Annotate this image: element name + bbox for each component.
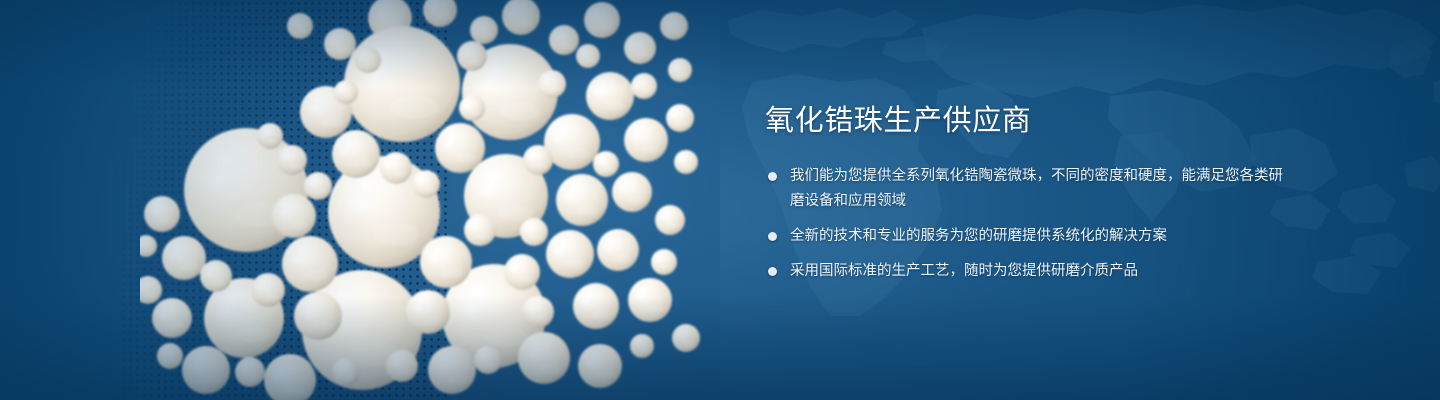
bullet-item: 全新的技术和专业的服务为您的研磨提供系统化的解决方案 bbox=[765, 224, 1285, 249]
bullet-item: 采用国际标准的生产工艺，随时为您提供研磨介质产品 bbox=[765, 259, 1285, 284]
bullet-item: 我们能为您提供全系列氧化锆陶瓷微珠，不同的密度和硬度，能满足您各类研磨设备和应用… bbox=[765, 164, 1285, 214]
bullet-text: 我们能为您提供全系列氧化锆陶瓷微珠，不同的密度和硬度，能满足您各类研磨设备和应用… bbox=[790, 164, 1285, 214]
banner-headline: 氧化锆珠生产供应商 bbox=[765, 104, 1285, 138]
bullet-dot-icon bbox=[768, 267, 777, 276]
bullet-text: 全新的技术和专业的服务为您的研磨提供系统化的解决方案 bbox=[790, 224, 1285, 249]
bullet-text: 采用国际标准的生产工艺，随时为您提供研磨介质产品 bbox=[790, 259, 1285, 284]
banner-copy: 氧化锆珠生产供应商 我们能为您提供全系列氧化锆陶瓷微珠，不同的密度和硬度，能满足… bbox=[765, 104, 1285, 284]
bullet-dot-icon bbox=[768, 232, 777, 241]
bullet-dot-icon bbox=[768, 172, 777, 181]
banner-bullet-list: 我们能为您提供全系列氧化锆陶瓷微珠，不同的密度和硬度，能满足您各类研磨设备和应用… bbox=[765, 164, 1285, 284]
hero-banner: 氧化锆珠生产供应商 我们能为您提供全系列氧化锆陶瓷微珠，不同的密度和硬度，能满足… bbox=[0, 0, 1440, 400]
